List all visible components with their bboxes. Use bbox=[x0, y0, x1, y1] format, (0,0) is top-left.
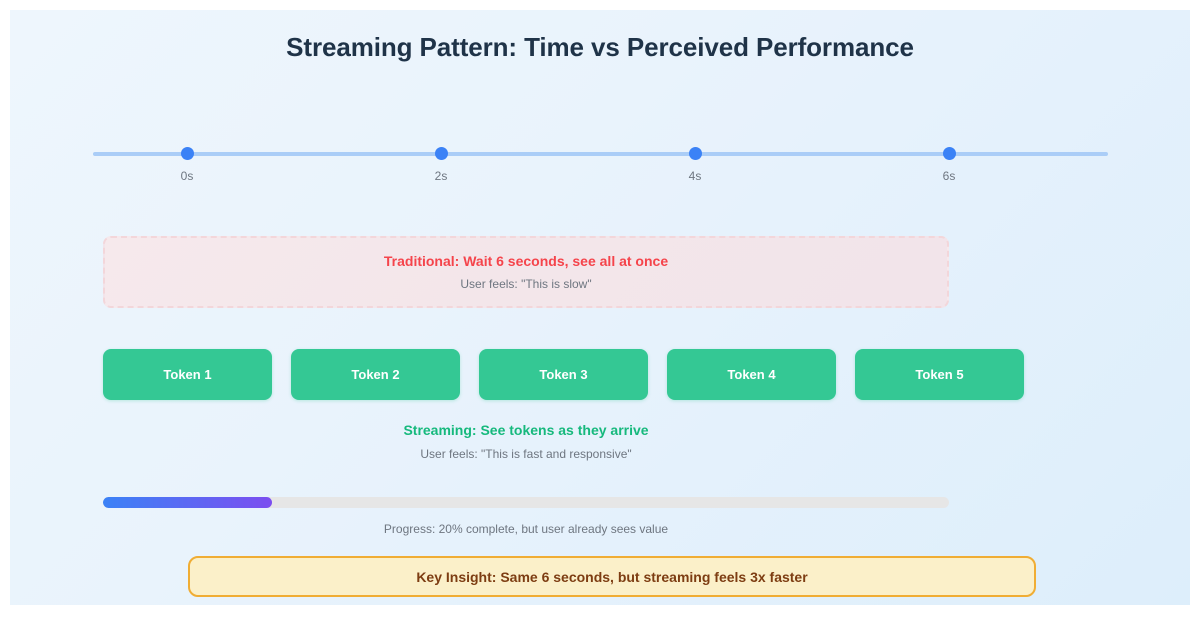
timeline-tick-label: 2s bbox=[411, 169, 471, 183]
page-title: Streaming Pattern: Time vs Perceived Per… bbox=[10, 32, 1190, 63]
screenshot-stage: Streaming Pattern: Time vs Perceived Per… bbox=[0, 0, 1200, 630]
timeline-tick-label: 6s bbox=[919, 169, 979, 183]
timeline-tick-0s[interactable]: 0s bbox=[157, 135, 217, 183]
timeline-dot-icon bbox=[689, 147, 702, 160]
timeline: 0s 2s 4s 6s bbox=[93, 135, 1108, 195]
timeline-tick-label: 4s bbox=[665, 169, 725, 183]
progress-bar[interactable] bbox=[103, 497, 949, 508]
streaming-headline: Streaming: See tokens as they arrive bbox=[103, 422, 949, 438]
timeline-dot-icon bbox=[181, 147, 194, 160]
timeline-tick-label: 0s bbox=[157, 169, 217, 183]
token-chip[interactable]: Token 1 bbox=[103, 349, 272, 400]
token-list: Token 1 Token 2 Token 3 Token 4 Token 5 bbox=[103, 349, 1118, 400]
token-chip[interactable]: Token 5 bbox=[855, 349, 1024, 400]
traditional-panel: Traditional: Wait 6 seconds, see all at … bbox=[103, 236, 949, 308]
progress-label: Progress: 20% complete, but user already… bbox=[103, 522, 949, 536]
key-insight-panel: Key Insight: Same 6 seconds, but streami… bbox=[188, 556, 1036, 597]
timeline-dot-icon bbox=[943, 147, 956, 160]
timeline-tick-4s[interactable]: 4s bbox=[665, 135, 725, 183]
token-chip[interactable]: Token 2 bbox=[291, 349, 460, 400]
token-chip[interactable]: Token 3 bbox=[479, 349, 648, 400]
streaming-caption: Streaming: See tokens as they arrive Use… bbox=[103, 422, 949, 461]
infographic-card: Streaming Pattern: Time vs Perceived Per… bbox=[10, 10, 1190, 605]
traditional-headline: Traditional: Wait 6 seconds, see all at … bbox=[384, 253, 668, 269]
token-chip[interactable]: Token 4 bbox=[667, 349, 836, 400]
traditional-subtext: User feels: "This is slow" bbox=[460, 277, 591, 291]
progress-bar-fill bbox=[103, 497, 272, 508]
streaming-subtext: User feels: "This is fast and responsive… bbox=[103, 447, 949, 461]
timeline-tick-6s[interactable]: 6s bbox=[919, 135, 979, 183]
timeline-tick-2s[interactable]: 2s bbox=[411, 135, 471, 183]
key-insight-text: Key Insight: Same 6 seconds, but streami… bbox=[416, 569, 807, 585]
timeline-dot-icon bbox=[435, 147, 448, 160]
